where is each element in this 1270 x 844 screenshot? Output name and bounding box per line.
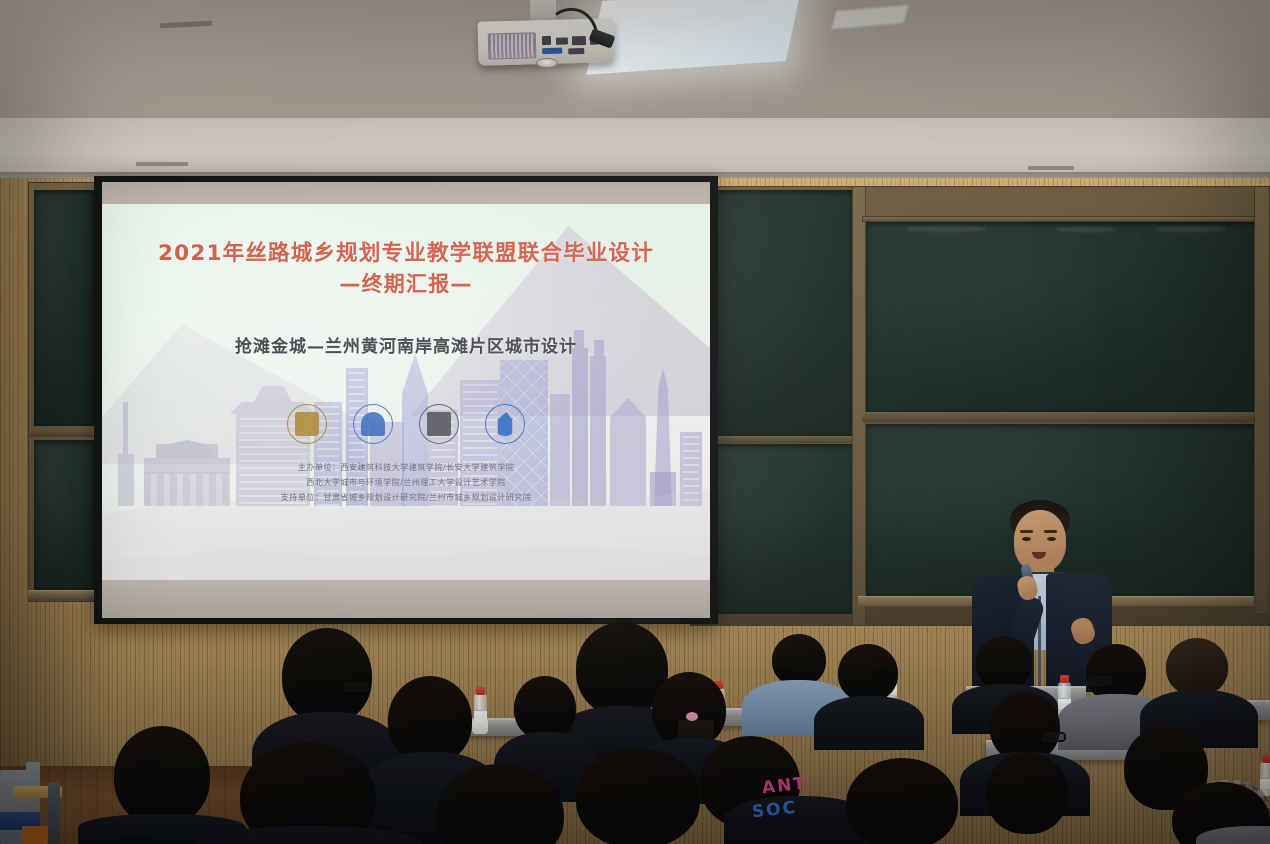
- seated-audience: ANT SOC: [0, 600, 1270, 844]
- university-logo-row: [102, 404, 710, 444]
- blackboard-panel-front-upper: [866, 222, 1256, 412]
- audience-head: [388, 676, 472, 764]
- ceiling-vent: [160, 21, 212, 29]
- eyeglasses: [1042, 732, 1066, 742]
- audience-head: [846, 758, 958, 844]
- audience-head: [986, 752, 1068, 834]
- hair-scrunchie: [686, 712, 698, 721]
- fluorescent-panel-light: [586, 0, 801, 75]
- projector-lens: [536, 58, 558, 68]
- eyeglasses: [1088, 676, 1112, 686]
- blackboard-panel-back-left: [694, 190, 854, 436]
- blackboard-panel-back-left-lower: [694, 444, 854, 614]
- presentation-slide: 2021年丝路城乡规划专业教学联盟联合毕业设计 —终期汇报— 抢滩金城—兰州黄河…: [102, 204, 710, 580]
- slide-title-line2: —终期汇报—: [102, 269, 710, 299]
- audience-head: [576, 748, 700, 844]
- soffit-vent-left: [136, 162, 188, 166]
- audience-head: [838, 644, 898, 702]
- paper-cup: [472, 720, 488, 734]
- soffit-vent-right: [1028, 166, 1074, 170]
- blackboard-left-panel: [28, 182, 102, 602]
- logo-xian-university-of-architecture: [287, 404, 327, 444]
- lecture-hall-photo: 2021年丝路城乡规划专业教学联盟联合毕业设计 —终期汇报— 抢滩金城—兰州黄河…: [0, 0, 1270, 844]
- projector-vent-grille: [488, 32, 537, 59]
- slide-credit-line-1: 主办单位：西安建筑科技大学建筑学院/长安大学建筑学院: [102, 460, 710, 475]
- logo-lanzhou-university-of-technology: [485, 404, 525, 444]
- projection-screen: 2021年丝路城乡规划专业教学联盟联合毕业设计 —终期汇报— 抢滩金城—兰州黄河…: [94, 176, 718, 624]
- logo-changan-university: [353, 404, 393, 444]
- ceiling-mounted-projector: [478, 14, 614, 76]
- slide-subtitle: 抢滩金城—兰州黄河南岸高滩片区城市设计: [102, 332, 710, 357]
- slide-credits: 主办单位：西安建筑科技大学建筑学院/长安大学建筑学院 西北大学城市与环境学院/兰…: [102, 460, 710, 506]
- audience-shoulders: [814, 696, 924, 750]
- fluorescent-panel-light-secondary: [832, 5, 909, 29]
- audience-head: [772, 634, 826, 686]
- logo-northwest-university: [419, 404, 459, 444]
- audience-head: [976, 636, 1032, 690]
- slide-title-line1: 2021年丝路城乡规划专业教学联盟联合毕业设计: [158, 241, 654, 266]
- screen-top-band: [102, 182, 710, 204]
- ceiling: [0, 0, 1270, 126]
- audience-head: [514, 676, 576, 740]
- ceiling-soffit: [0, 118, 1270, 180]
- slide-credit-line-2: 西北大学城市与环境学院/兰州理工大学设计艺术学院: [102, 475, 710, 490]
- slide-title: 2021年丝路城乡规划专业教学联盟联合毕业设计 —终期汇报—: [102, 238, 710, 300]
- slide-credit-line-3: 支持单位：甘肃省城乡规划设计研究院/兰州市城乡规划设计研究院: [102, 490, 710, 505]
- audience-head: [1166, 638, 1228, 696]
- hoodie-text-line1: ANT: [761, 774, 808, 799]
- audience-head: [114, 726, 210, 826]
- eyeglasses: [344, 682, 368, 692]
- presenter-head: [1014, 510, 1066, 572]
- audience-head: [282, 628, 372, 724]
